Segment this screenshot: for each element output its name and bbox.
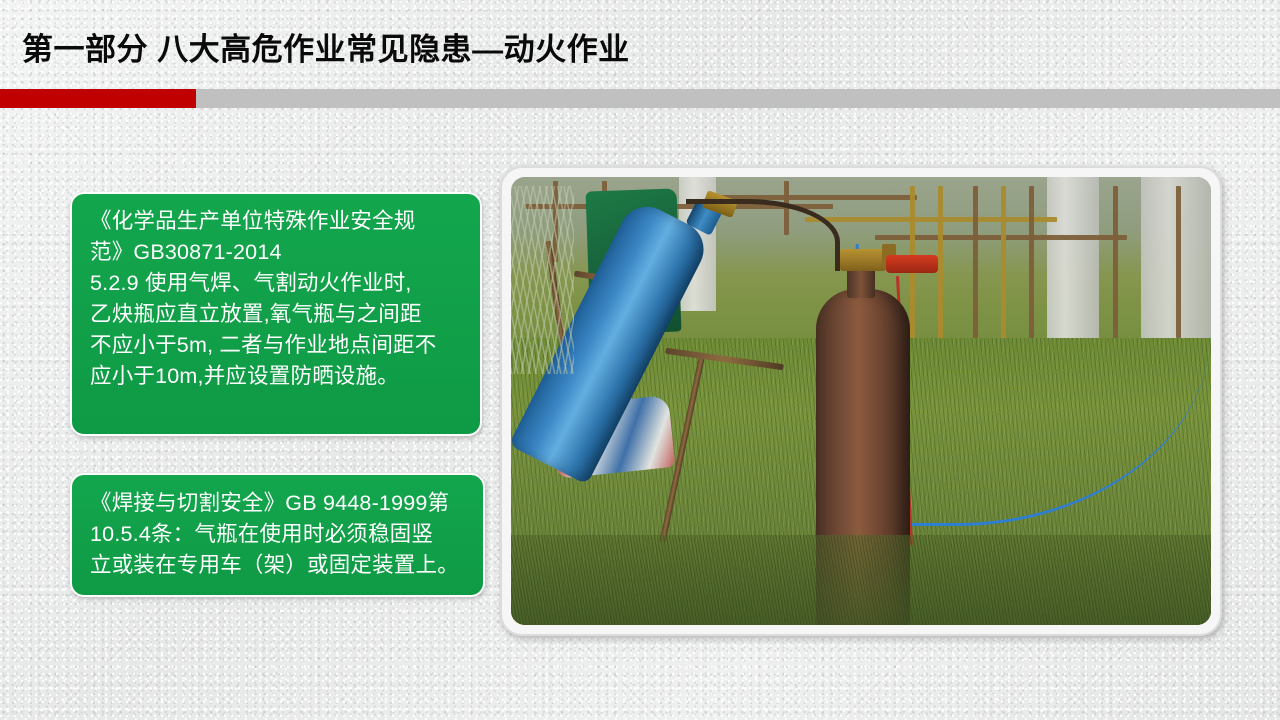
note2-line-1: 《焊接与切割安全》GB 9448-1999第 bbox=[90, 488, 469, 519]
note1-line-6: 应小于10m,并应设置防晒设施。 bbox=[90, 361, 466, 392]
title-bar: 第一部分 八大高危作业常见隐患—动火作业 bbox=[0, 0, 1280, 88]
site-photo: 氧气、乙炔瓶在烈日下暴晒 氧气、乙炔瓶之间的距 离小于5m。 氧气、乙炔瓶无防震… bbox=[511, 177, 1211, 625]
acetylene-cylinder-neck bbox=[847, 267, 875, 298]
note1-line-3: 5.2.9 使用气焊、气割动火作业时, bbox=[90, 268, 466, 299]
note2-line-3: 立或装在专用车（架）或固定装置上。 bbox=[90, 550, 469, 581]
note1-line-2: 范》GB30871-2014 bbox=[90, 237, 466, 268]
regulation-note-gb30871: 《化学品生产单位特殊作业安全规 范》GB30871-2014 5.2.9 使用气… bbox=[70, 192, 482, 436]
red-valve-handwheel bbox=[886, 255, 939, 273]
accent-rule-gray bbox=[0, 89, 1280, 108]
note2-line-2: 10.5.4条：气瓶在使用时必须稳固竖 bbox=[90, 519, 469, 550]
tall-weeds bbox=[511, 186, 574, 374]
note1-line-1: 《化学品生产单位特殊作业安全规 bbox=[90, 206, 466, 237]
page-title: 第一部分 八大高危作业常见隐患—动火作业 bbox=[22, 33, 630, 67]
regulation-note-gb9448: 《焊接与切割安全》GB 9448-1999第 10.5.4条：气瓶在使用时必须稳… bbox=[70, 473, 485, 597]
accent-rule-red bbox=[0, 89, 196, 108]
foreground-grass bbox=[511, 535, 1211, 625]
scaffold-bar bbox=[805, 217, 1057, 222]
photo-frame: 氧气、乙炔瓶在烈日下暴晒 氧气、乙炔瓶之间的距 离小于5m。 氧气、乙炔瓶无防震… bbox=[500, 166, 1222, 636]
acetylene-cylinder-valve bbox=[840, 249, 886, 271]
slide-canvas: 第一部分 八大高危作业常见隐患—动火作业 《化学品生产单位特殊作业安全规 范》G… bbox=[0, 0, 1280, 720]
note1-line-5: 不应小于5m, 二者与作业地点间距不 bbox=[90, 330, 466, 361]
note1-line-4: 乙炔瓶应直立放置,氧气瓶与之间距 bbox=[90, 299, 466, 330]
